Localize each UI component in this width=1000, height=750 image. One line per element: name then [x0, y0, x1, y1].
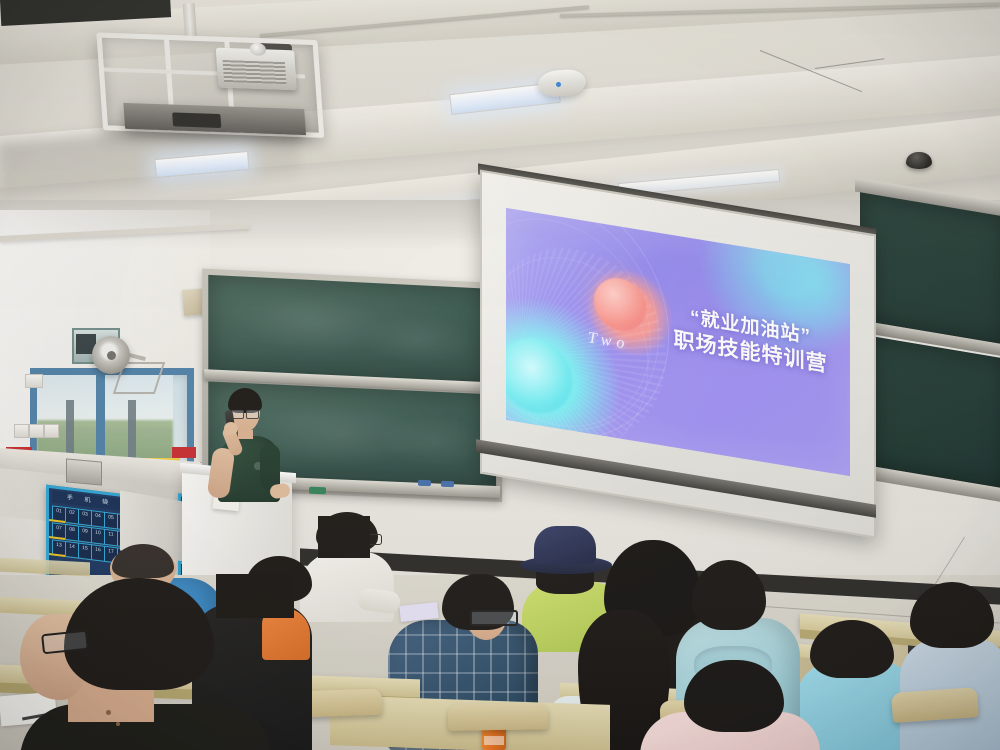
- slide-content: Two “就业加油站” 职场技能特训营: [506, 208, 850, 476]
- power-outlet: [14, 424, 29, 438]
- student-foreground-black-tee: [20, 578, 250, 750]
- phone-pocket-slot[interactable]: 09: [78, 526, 92, 544]
- chalk-piece[interactable]: [418, 480, 431, 486]
- hair: [684, 660, 784, 732]
- fan-hub: [107, 351, 116, 360]
- dome-camera-icon: [906, 152, 932, 169]
- power-outlet: [44, 424, 59, 438]
- projector-vents: [223, 60, 287, 84]
- phone-pocket-slot[interactable]: 05: [104, 512, 118, 530]
- hair: [318, 516, 370, 558]
- eyeglasses-icon: [246, 410, 259, 419]
- bucket-hat-crown: [534, 526, 596, 564]
- blackboard-right: [855, 183, 1000, 528]
- phone-pocket-slot[interactable]: 02: [65, 507, 79, 525]
- chair[interactable]: [891, 687, 979, 723]
- presenter-arm-right: [260, 444, 280, 490]
- blackboard-panel-upper: [208, 275, 496, 383]
- skin-mark: [116, 722, 120, 726]
- power-outlet: [25, 374, 43, 388]
- presenter-hand: [224, 422, 238, 435]
- laptop[interactable]: [66, 458, 102, 485]
- hair: [112, 544, 174, 578]
- eyeglasses-icon: [470, 610, 518, 626]
- phone-pocket-slot[interactable]: 08: [65, 524, 79, 542]
- blackboard-panel-upper: [860, 192, 1000, 344]
- power-outlet: [29, 424, 44, 438]
- phone-pocket-slot[interactable]: 03: [78, 509, 92, 527]
- projector-mount-rod: [183, 3, 197, 38]
- hair: [810, 620, 894, 678]
- classroom-photo: Two “就业加油站” 职场技能特训营 手 机 袋 01020304050607…: [0, 0, 1000, 750]
- hair: [692, 560, 766, 630]
- hair: [910, 582, 994, 648]
- window-post: [128, 400, 136, 462]
- red-warning-sign: [172, 447, 196, 458]
- phone-pocket-slot[interactable]: 04: [91, 510, 105, 528]
- projector-slot: [172, 112, 221, 128]
- chalk-piece[interactable]: [441, 481, 454, 487]
- presenter-hand: [269, 482, 291, 499]
- ceiling-projector: [96, 10, 329, 150]
- blackboard-eraser[interactable]: [309, 487, 326, 495]
- wifi-status-led: [556, 82, 561, 87]
- soda-can-label: [484, 736, 504, 745]
- phone-pocket-slot[interactable]: 10: [91, 527, 105, 545]
- student-grey-blue-right: [900, 582, 1000, 750]
- skin-mark: [106, 710, 111, 715]
- student-pink-shirt: [640, 660, 810, 750]
- presenter: [210, 388, 300, 508]
- blackboard-panel-lower: [860, 334, 1000, 488]
- phone-pocket-slot[interactable]: 14: [65, 541, 79, 559]
- chair[interactable]: [448, 703, 548, 731]
